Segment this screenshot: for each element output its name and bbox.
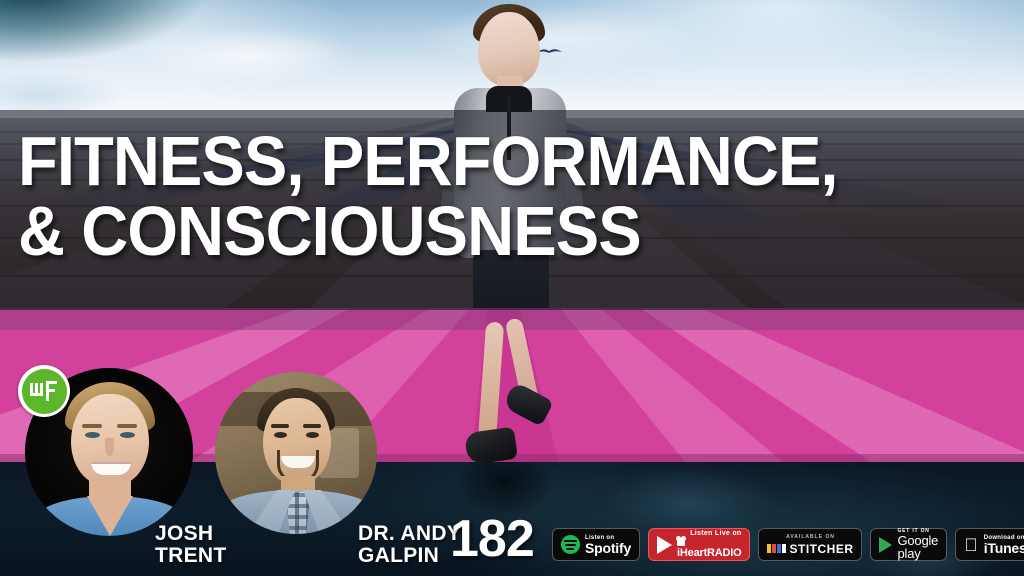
badge-spotify[interactable]: Listen on Spotify (552, 528, 640, 561)
badge-iheartradio-small: Listen Live on (690, 530, 741, 537)
podcast-platform-badges: Listen on Spotify Listen Live on iHeartR… (552, 528, 1024, 561)
badge-google-play-big: Google play (897, 534, 938, 560)
spotify-icon (561, 535, 580, 554)
guest-portrait-andy-galpin (215, 372, 377, 534)
badge-itunes[interactable]:  Download on iTunes (955, 528, 1024, 561)
badge-iheartradio-big: iHeartRADIO (677, 537, 741, 559)
badge-spotify-big: Spotify (585, 541, 631, 555)
apple-icon:  (964, 536, 978, 554)
stitcher-icon (767, 544, 786, 553)
badge-stitcher-big: STITCHER (789, 543, 853, 555)
badge-stitcher-small: AVAILABLE ON (786, 535, 835, 540)
play-icon (657, 536, 672, 554)
badge-google-play[interactable]: GET IT ON Google play (870, 528, 947, 561)
iheart-icon (677, 538, 685, 546)
page-title: FITNESS, PERFORMANCE, & CONSCIOUSNESS (18, 126, 911, 266)
logo-icon (22, 369, 67, 414)
episode-number: 182 (450, 513, 534, 565)
badge-iheartradio[interactable]: Listen Live on iHeartRADIO (648, 528, 750, 561)
badge-stitcher[interactable]: AVAILABLE ON STITCHER (758, 528, 862, 561)
badge-itunes-big: iTunes (984, 541, 1024, 555)
podcast-episode-artwork: FITNESS, PERFORMANCE, & CONSCIOUSNESS (0, 0, 1024, 576)
guest-name-label: DR. ANDY GALPIN (358, 523, 461, 567)
host-name-label: JOSH TRENT (155, 523, 227, 567)
google-play-icon (879, 537, 892, 553)
runner-legs-overlay (440, 300, 590, 470)
wellness-force-logo[interactable] (18, 365, 70, 417)
wf-monogram-icon (29, 379, 59, 403)
